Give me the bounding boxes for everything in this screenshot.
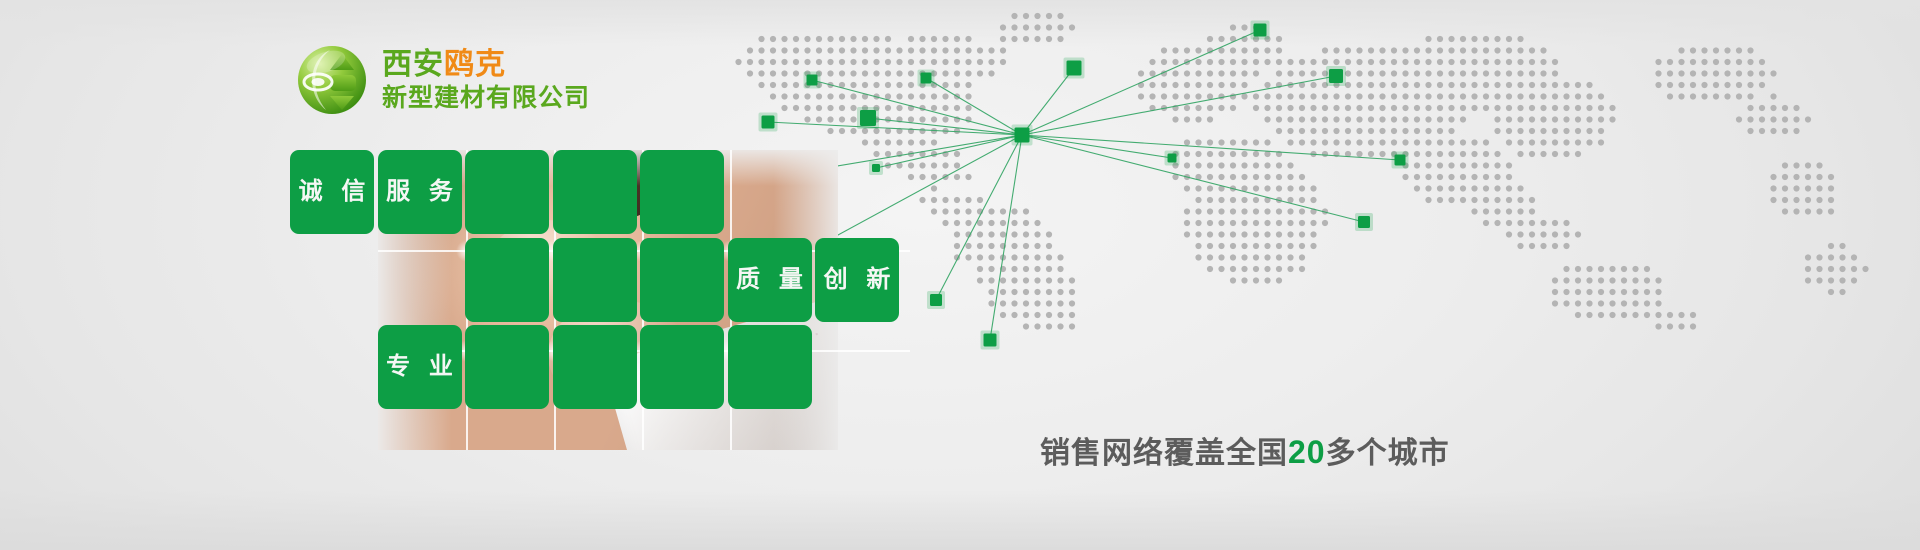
tile-blank-r2c5 <box>728 325 812 409</box>
tile-fuwu-label: 服 务 <box>380 180 459 204</box>
tile-blank-r1c2 <box>465 238 549 322</box>
company-logo[interactable]: 西安鸥克 新型建材有限公司 <box>296 44 590 116</box>
logo-line1-highlight: 鸥克 <box>444 48 506 81</box>
bottom-edge-shading <box>0 490 1920 550</box>
tile-blank-r2c3 <box>553 325 637 409</box>
logo-wordmark: 西安鸥克 新型建材有限公司 <box>382 50 590 111</box>
tile-chengxin: 诚 信 <box>290 150 374 234</box>
tile-zhuanye: 专 业 <box>378 325 462 409</box>
tile-blank-r0c2 <box>465 150 549 234</box>
tile-blank-r0c3 <box>553 150 637 234</box>
tile-fuwu: 服 务 <box>378 150 462 234</box>
tile-chuangxin-label: 创 新 <box>818 268 897 292</box>
banner-root: 诚 信服 务质 量创 新专 业 <box>0 0 1920 550</box>
sales-network-tagline: 销售网络覆盖全国20多个城市 <box>1040 428 1450 472</box>
logo-line1-prefix: 西安 <box>382 48 444 81</box>
tile-chengxin-label: 诚 信 <box>293 180 372 204</box>
logo-line-1: 西安鸥克 <box>382 50 590 80</box>
tagline-prefix: 销售网络覆盖全国 <box>1040 437 1288 470</box>
tile-chuangxin: 创 新 <box>815 238 899 322</box>
tile-blank-r1c3 <box>553 238 637 322</box>
tile-zhiliang-label: 质 量 <box>730 268 809 292</box>
tile-blank-r2c2 <box>465 325 549 409</box>
tile-blank-r2c4 <box>640 325 724 409</box>
tile-zhiliang: 质 量 <box>728 238 812 322</box>
logo-line-2: 新型建材有限公司 <box>382 86 590 111</box>
tagline-suffix: 多个城市 <box>1326 437 1450 470</box>
tile-blank-r1c4 <box>640 238 724 322</box>
tagline-number: 20 <box>1288 434 1326 470</box>
tile-blank-r0c4 <box>640 150 724 234</box>
tile-zhuanye-label: 专 业 <box>380 355 459 379</box>
leaf-globe-logo-icon <box>296 44 368 116</box>
